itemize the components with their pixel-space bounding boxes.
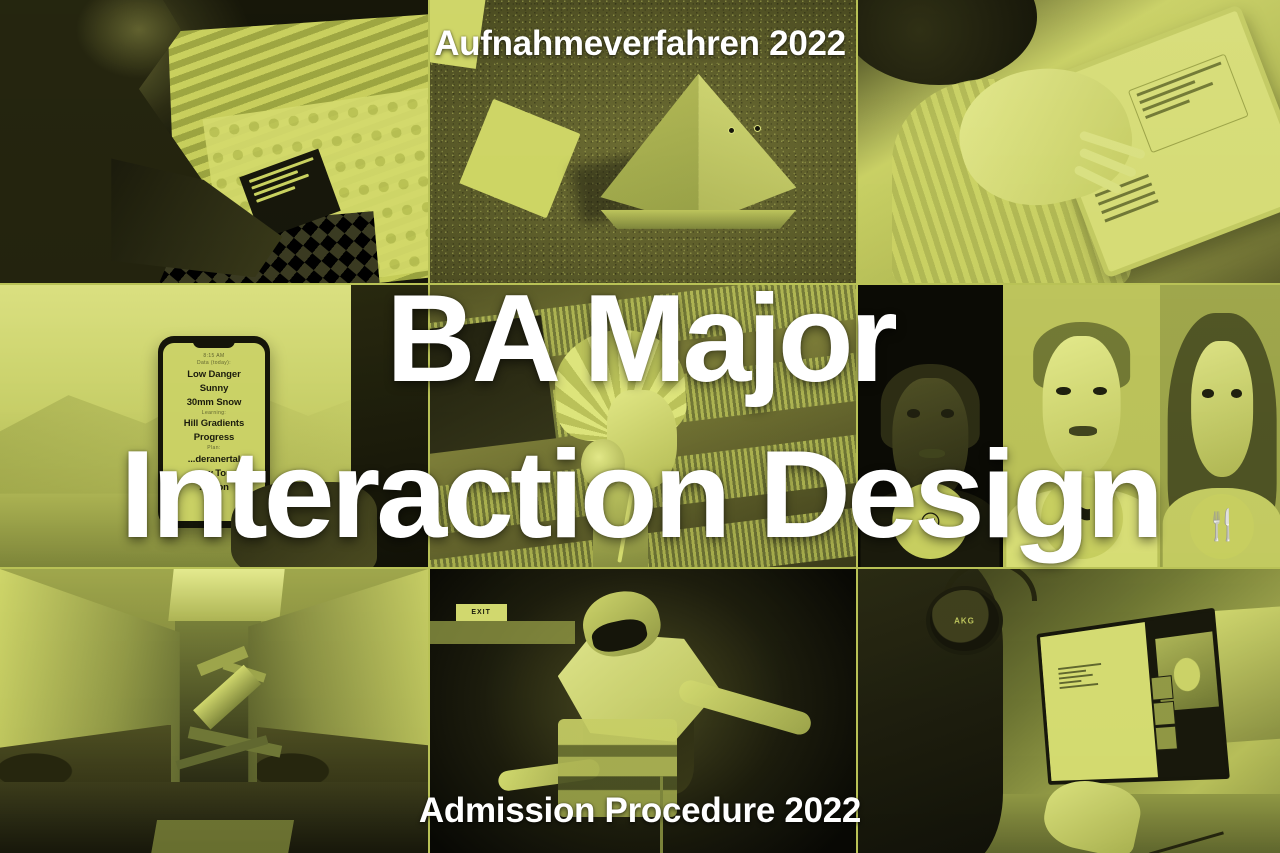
photo-tile-bottom-center: EXIT [430, 569, 856, 853]
eye-shape [1093, 387, 1107, 395]
slide-text-line [1058, 670, 1086, 675]
phone-row-danger: Low Danger [163, 368, 264, 382]
face-shape [1191, 341, 1253, 476]
phone-row-gradients: Hill Gradients [163, 417, 264, 431]
laptop-screen [1040, 612, 1225, 781]
photo-grid: 8:15 AM Data (today): Low Danger Sunny 3… [0, 0, 1280, 853]
slide-text-line [1058, 663, 1101, 670]
phone-notch [193, 339, 235, 348]
phone-section-1-label: Data (today): [163, 360, 264, 367]
video-call-panel [1144, 612, 1225, 777]
label-line [256, 186, 295, 203]
tripod-stand [660, 776, 663, 853]
headphone-cup [581, 439, 624, 489]
participant-avatar [1172, 656, 1202, 692]
glove-shape [231, 482, 377, 567]
photo-tile-middle-center [430, 285, 856, 567]
photo-artwork [430, 0, 856, 283]
face-shape [1042, 336, 1121, 477]
phone-section-3-label: Plan: [163, 445, 264, 452]
phone-status-label: 8:15 AM [163, 353, 264, 360]
video-participant-thumb [1155, 726, 1178, 751]
ui-text-line [1145, 99, 1190, 119]
moustache-shape [1069, 426, 1097, 436]
photo-artwork [0, 569, 428, 853]
eye-shape [941, 409, 954, 417]
sensor-dot [754, 125, 761, 132]
exit-sign-icon: EXIT [456, 604, 507, 621]
phone-row-plan-1: ...deranertal [163, 453, 264, 467]
phone-section-2-label: Learning: [163, 410, 264, 417]
eye-shape [1231, 389, 1242, 397]
photo-artwork: 8:15 AM Data (today): Low Danger Sunny 3… [0, 285, 428, 567]
flag-icon: ⚑ [1041, 477, 1123, 559]
photo-tile-bottom-right: AKG [858, 569, 1280, 853]
slide-text-line [1059, 680, 1081, 684]
ui-text-panel [1128, 53, 1249, 153]
photo-tile-middle-left: 8:15 AM Data (today): Low Danger Sunny 3… [0, 285, 428, 567]
pyramid-face-right [600, 74, 796, 232]
portrait-1: ☺ [858, 285, 1003, 567]
photo-tile-top-left [0, 0, 428, 283]
photo-artwork: EXIT [430, 569, 856, 853]
eye-shape [907, 409, 920, 417]
performer-figure [549, 330, 694, 567]
headphone-brand-label: AKG [954, 616, 975, 625]
headphone-cup: AKG [926, 586, 1003, 655]
pyramid-base [596, 210, 800, 229]
phone-row-snow: 30mm Snow [163, 396, 264, 410]
slide-text-line [1058, 674, 1092, 680]
cutlery-icon: 🍴 [1190, 494, 1254, 558]
laptop-device [1036, 607, 1230, 785]
video-participant-thumb [1150, 675, 1173, 700]
eye-shape [1056, 387, 1070, 395]
skylight-shape [168, 569, 285, 621]
photo-tile-middle-right: ☺ ⚑ 🍴 [858, 285, 1280, 567]
photo-tile-top-center [430, 0, 856, 283]
photo-artwork: ☺ ⚑ 🍴 [858, 285, 1280, 567]
pyramid-object [600, 74, 796, 232]
ui-text-line [1137, 62, 1222, 97]
phone-row-progress: Progress [163, 431, 264, 445]
presentation-slide [1040, 622, 1158, 781]
portrait-3: 🍴 [1160, 285, 1280, 567]
phone-row-weather: Sunny [163, 382, 264, 396]
person-icon: ☺ [893, 483, 968, 558]
photo-tile-top-right [858, 0, 1280, 283]
poster-canvas: 8:15 AM Data (today): Low Danger Sunny 3… [0, 0, 1280, 853]
slide-text-line [1059, 683, 1097, 689]
moustache-shape [919, 449, 945, 459]
photo-artwork [430, 285, 856, 567]
photo-artwork [0, 0, 428, 283]
phone-row-plan-2: ...ew Tour [163, 467, 264, 481]
photo-artwork: AKG [858, 569, 1280, 853]
video-participant-thumb [1152, 700, 1175, 725]
back-wall [430, 621, 575, 644]
floor-plank [151, 820, 294, 853]
eye-shape [1202, 389, 1213, 397]
window-shape [430, 316, 556, 458]
person-head-shape [858, 0, 1037, 85]
photo-artwork [858, 0, 1280, 283]
photo-tile-bottom-left [0, 569, 428, 853]
portrait-2: ⚑ [1003, 285, 1161, 567]
